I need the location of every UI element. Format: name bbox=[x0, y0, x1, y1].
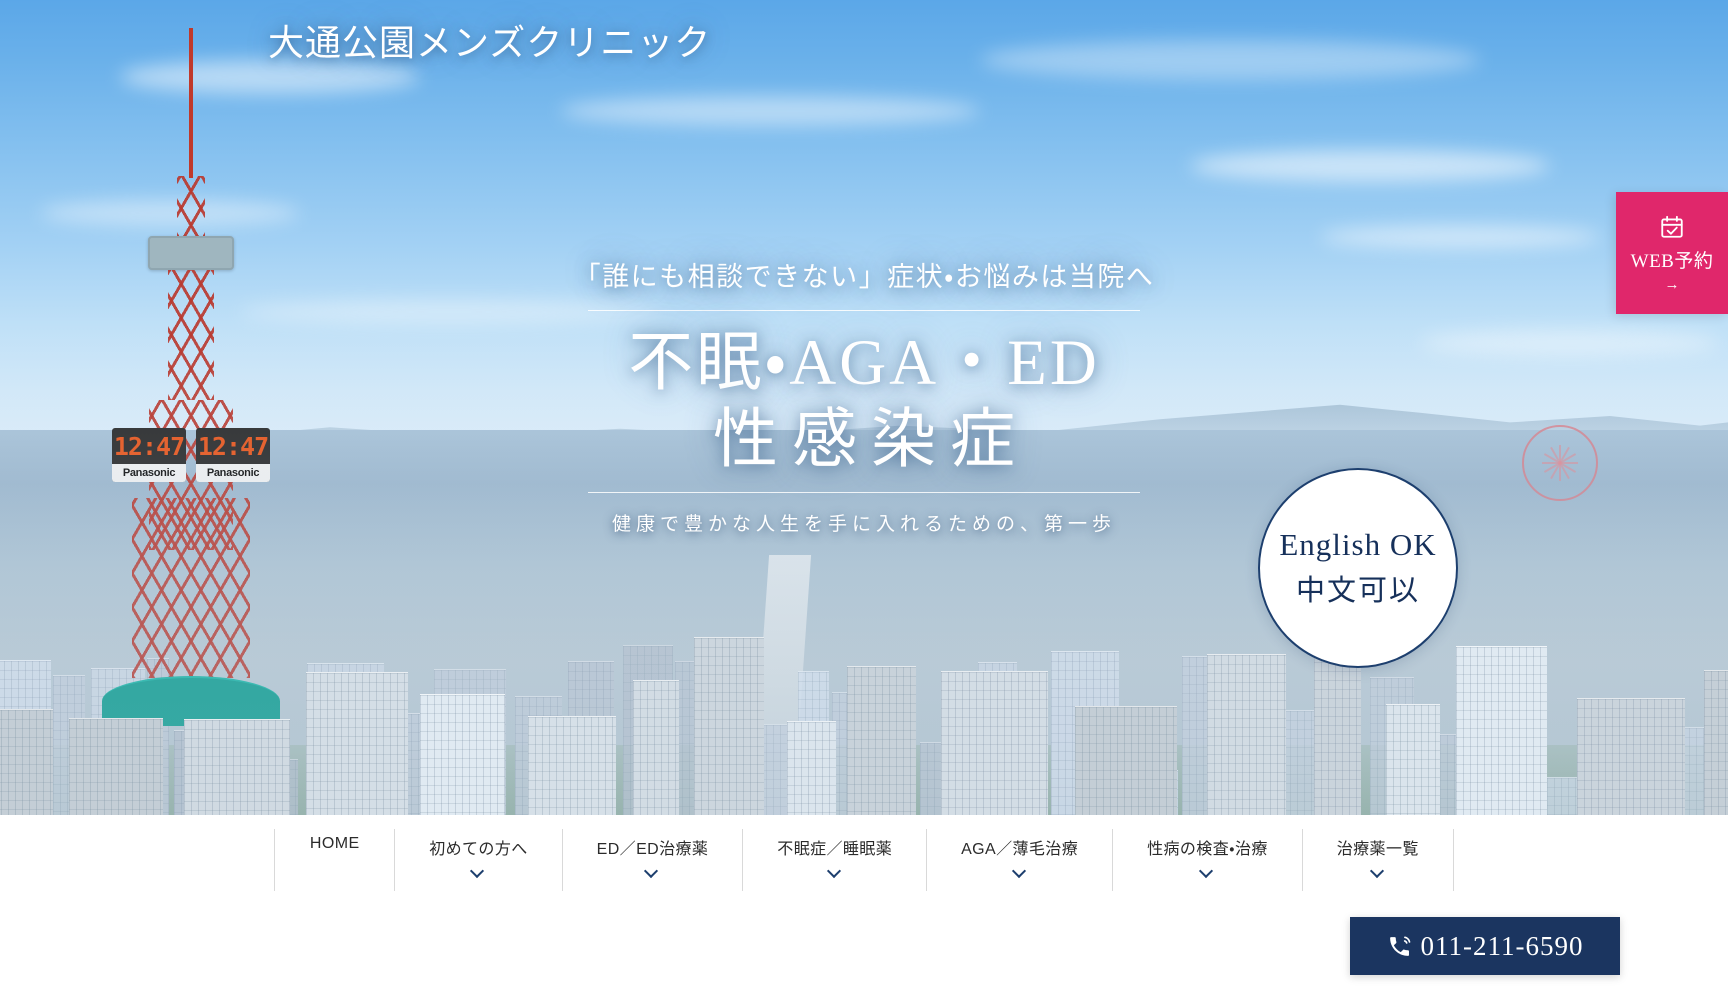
calendar-check-icon bbox=[1659, 214, 1685, 240]
building bbox=[1207, 654, 1286, 815]
building bbox=[306, 672, 408, 815]
main-navigation: HOME初めての方へED／ED治療薬不眠症／睡眠薬AGA／薄毛治療性病の検査・治… bbox=[0, 815, 1728, 905]
nav-item-1[interactable]: HOME bbox=[274, 829, 394, 891]
site-logo[interactable]: 大通公園メンズクリニック bbox=[268, 14, 711, 66]
building bbox=[633, 680, 679, 815]
building bbox=[184, 719, 290, 815]
badge-line-chinese: 中文可以 bbox=[1296, 567, 1420, 609]
nav-item-label: ED／ED治療薬 bbox=[597, 835, 709, 859]
nav-item-label: 初めての方へ bbox=[429, 835, 527, 859]
building bbox=[1314, 643, 1361, 815]
building bbox=[69, 718, 163, 815]
phone-ringing-icon bbox=[1387, 934, 1412, 959]
building bbox=[787, 721, 836, 815]
chevron-down-icon bbox=[645, 866, 659, 875]
cloud bbox=[1320, 226, 1600, 248]
hero-divider-bottom bbox=[588, 492, 1140, 493]
page-root: [] 12:47 Panasonic 12:47 Panaso bbox=[0, 0, 1728, 1000]
hero-headline: 不眠・AGA・ED 性感染症 bbox=[0, 325, 1728, 478]
building bbox=[941, 671, 1048, 815]
hero-copy: 「誰にも相談できない」症状・お悩みは当院へ 不眠・AGA・ED 性感染症 健康で… bbox=[0, 255, 1728, 536]
web-reservation-label: WEB予約 bbox=[1631, 246, 1714, 273]
hero-divider-top bbox=[588, 310, 1140, 311]
nav-item-5[interactable]: AGA／薄毛治療 bbox=[926, 829, 1112, 891]
telephone-number: 011-211-6590 bbox=[1421, 931, 1584, 962]
building bbox=[1456, 646, 1547, 815]
language-support-badge[interactable]: English OK 中文可以 bbox=[1258, 468, 1458, 668]
nav-item-label: 治療薬一覧 bbox=[1337, 835, 1419, 859]
cloud bbox=[1190, 150, 1550, 182]
hero-subtitle: 健康で豊かな人生を手に入れるための、第一歩 bbox=[0, 509, 1728, 536]
nav-item-2[interactable]: 初めての方へ bbox=[394, 829, 561, 891]
building bbox=[1075, 706, 1177, 815]
nav-item-label: HOME bbox=[310, 835, 360, 853]
telephone-button[interactable]: 011-211-6590 bbox=[1350, 917, 1620, 975]
chevron-down-icon bbox=[1371, 866, 1385, 875]
building bbox=[1182, 656, 1207, 815]
building bbox=[1386, 704, 1440, 815]
cloud bbox=[560, 96, 980, 126]
hero-headline-line2: 性感染症 bbox=[0, 402, 1728, 479]
hero-headline-line1: 不眠・AGA・ED bbox=[0, 325, 1728, 402]
arrow-right-icon: → bbox=[1665, 277, 1680, 292]
nav-item-3[interactable]: ED／ED治療薬 bbox=[562, 829, 743, 891]
cloud bbox=[980, 40, 1480, 80]
chevron-down-icon bbox=[1200, 866, 1214, 875]
chevron-down-icon bbox=[828, 866, 842, 875]
building bbox=[528, 716, 616, 815]
building bbox=[694, 637, 764, 815]
building bbox=[0, 709, 53, 815]
nav-item-4[interactable]: 不眠症／睡眠薬 bbox=[742, 829, 926, 891]
nav-item-7[interactable]: 治療薬一覧 bbox=[1302, 829, 1454, 891]
nav-item-label: 性病の検査・治療 bbox=[1147, 835, 1268, 859]
hero-tagline: 「誰にも相談できない」症状・お悩みは当院へ bbox=[0, 255, 1728, 294]
nav-item-label: AGA／薄毛治療 bbox=[961, 835, 1078, 859]
nav-item-label: 不眠症／睡眠薬 bbox=[777, 835, 892, 859]
building bbox=[420, 694, 505, 815]
building bbox=[1577, 698, 1685, 815]
nav-item-6[interactable]: 性病の検査・治療 bbox=[1112, 829, 1302, 891]
web-reservation-button[interactable]: WEB予約 → bbox=[1616, 192, 1728, 314]
building bbox=[1704, 670, 1728, 815]
building bbox=[847, 666, 916, 815]
chevron-down-icon bbox=[471, 866, 485, 875]
chevron-down-icon bbox=[1013, 866, 1027, 875]
badge-line-english: English OK bbox=[1279, 527, 1436, 563]
